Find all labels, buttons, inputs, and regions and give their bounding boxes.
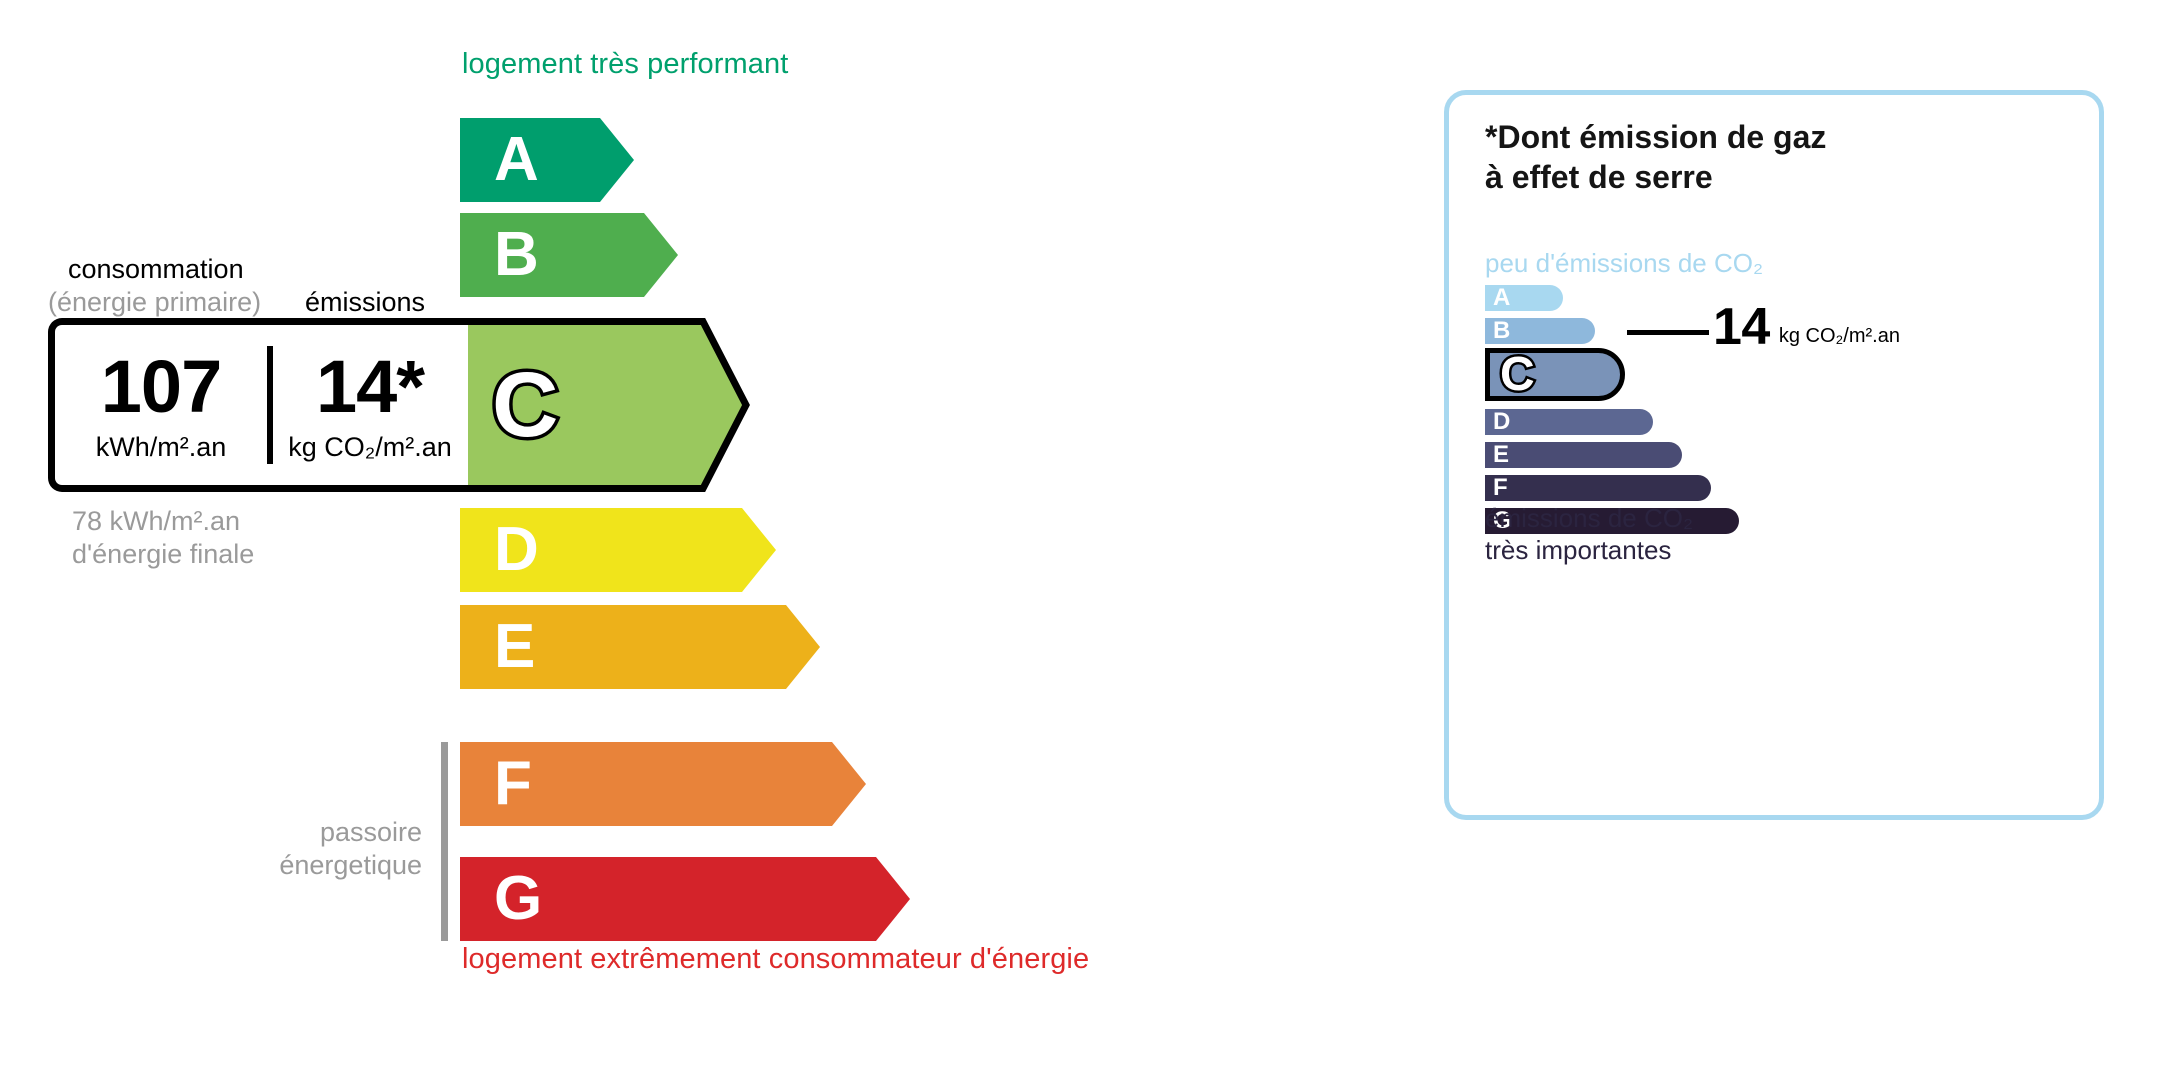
passoire-label: passoire énergetique bbox=[200, 816, 422, 882]
energy-class-row-a[interactable]: A bbox=[460, 118, 634, 202]
co2-bar-e: E bbox=[1485, 442, 1682, 468]
co2-class-letter-a: A bbox=[1493, 286, 1510, 310]
co2-class-letter-b: B bbox=[1493, 319, 1510, 343]
consumption-value-cell: 107 kWh/m².an bbox=[55, 350, 267, 461]
co2-bar-b: B bbox=[1485, 318, 1595, 344]
emissions-value: 14* bbox=[273, 350, 467, 424]
co2-value-group: 14 kg CO₂/m².an bbox=[1713, 301, 1900, 353]
energy-arrow-b bbox=[460, 213, 678, 297]
co2-bar-f: F bbox=[1485, 475, 1711, 501]
co2-class-row-f[interactable]: F bbox=[1485, 475, 1711, 501]
dpe-diagram: logement très performant A B bbox=[0, 0, 2169, 1079]
co2-top-caption: peu d'émissions de CO₂ bbox=[1485, 248, 1763, 279]
passoire-bracket bbox=[441, 742, 448, 941]
co2-class-row-b[interactable]: B bbox=[1485, 318, 1595, 344]
co2-bar-c-selected: C bbox=[1485, 348, 1625, 401]
energy-class-row-f[interactable]: F bbox=[460, 742, 866, 826]
energy-class-row-d[interactable]: D bbox=[460, 508, 776, 592]
consumption-header-label: consommation bbox=[68, 254, 244, 285]
energy-arrow-c-selected bbox=[460, 318, 750, 492]
consumption-header-sublabel: (énergie primaire) bbox=[48, 287, 261, 318]
energy-class-row-e[interactable]: E bbox=[460, 605, 820, 689]
energy-arrow-f bbox=[460, 742, 866, 826]
energy-class-row-g[interactable]: G bbox=[460, 857, 910, 941]
co2-class-letter-c: C bbox=[1500, 351, 1535, 399]
consumption-value: 107 bbox=[55, 350, 267, 424]
co2-leader-line bbox=[1627, 330, 1709, 335]
co2-panel-title: *Dont émission de gaz à effet de serre bbox=[1485, 117, 1826, 198]
dpe-value-box: 107 kWh/m².an 14* kg CO₂/m².an bbox=[48, 318, 468, 492]
co2-bar-d: D bbox=[1485, 409, 1653, 435]
emissions-unit: kg CO₂/m².an bbox=[273, 434, 467, 461]
co2-bottom-caption: émissions de CO₂ très importantes bbox=[1485, 503, 1693, 566]
co2-value-unit: kg CO₂/m².an bbox=[1779, 325, 1900, 348]
final-energy-note: 78 kWh/m².an d'énergie finale bbox=[72, 505, 254, 571]
energy-class-row-c[interactable]: C bbox=[460, 318, 750, 492]
co2-bar-a: A bbox=[1485, 285, 1563, 311]
co2-class-row-e[interactable]: E bbox=[1485, 442, 1682, 468]
co2-class-letter-f: F bbox=[1493, 476, 1508, 500]
consumption-unit: kWh/m².an bbox=[55, 434, 267, 461]
energy-consumption-panel: logement très performant A B bbox=[0, 0, 1380, 1079]
co2-class-letter-e: E bbox=[1493, 443, 1509, 467]
co2-class-row-a[interactable]: A bbox=[1485, 285, 1563, 311]
co2-value: 14 bbox=[1713, 301, 1770, 353]
co2-emissions-panel: *Dont émission de gaz à effet de serre p… bbox=[1444, 90, 2104, 820]
co2-class-row-d[interactable]: D bbox=[1485, 409, 1653, 435]
energy-arrow-a bbox=[460, 118, 634, 202]
energy-class-row-b[interactable]: B bbox=[460, 213, 678, 297]
emissions-header-label: émissions bbox=[305, 287, 425, 318]
energy-arrow-d bbox=[460, 508, 776, 592]
emissions-value-cell: 14* kg CO₂/m².an bbox=[273, 350, 467, 461]
energy-arrow-g bbox=[460, 857, 910, 941]
co2-class-letter-d: D bbox=[1493, 410, 1510, 434]
co2-class-row-c[interactable]: C bbox=[1485, 348, 1625, 401]
energy-arrow-e bbox=[460, 605, 820, 689]
energy-bottom-caption: logement extrêmement consommateur d'éner… bbox=[462, 943, 1089, 976]
